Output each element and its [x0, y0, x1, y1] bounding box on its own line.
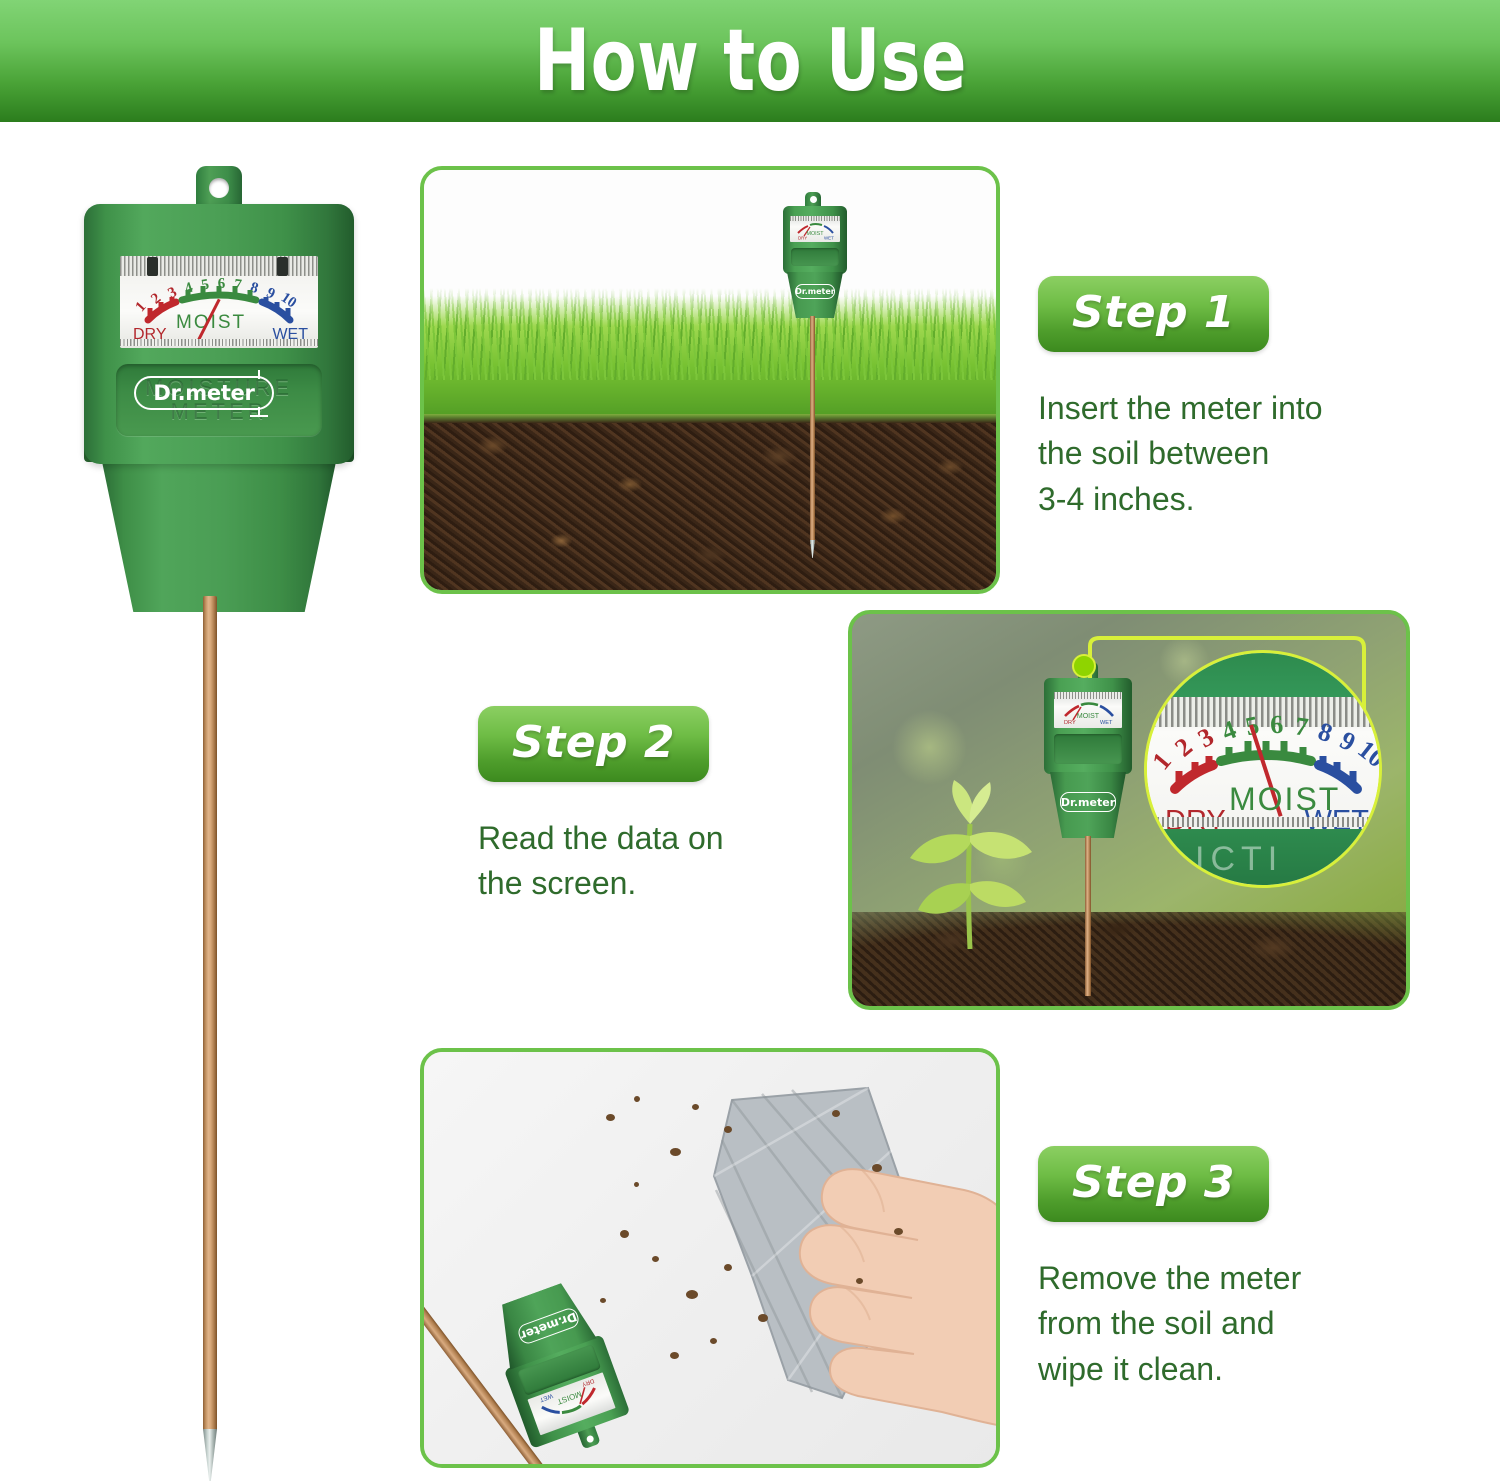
soil-particle [832, 1110, 840, 1117]
svg-text:WET: WET [538, 1392, 553, 1402]
step-3-block: Step 3 Remove the meter from the soil an… [1038, 1146, 1438, 1392]
hero-moisture-meter: 1 2 3 4 5 6 7 8 9 10 DRY [84, 166, 354, 1466]
probe-tip [203, 1429, 217, 1481]
step1-image-panel: MOIST DRY WET Dr.meter 3~4 inches [420, 166, 1000, 594]
step-3-badge: Step 3 [1038, 1146, 1269, 1222]
gauge-comb-bottom [120, 339, 318, 346]
soil-cross-section [424, 414, 996, 590]
magnified-gauge: 1 2 3 4 5 6 7 8 9 10 DRY MOIST WET ICTI [1144, 650, 1382, 888]
brand-logo-text: Dr.meter [153, 381, 254, 405]
svg-text:DRY: DRY [581, 1377, 595, 1387]
logo-tick-bar [250, 415, 268, 417]
svg-text:MOIST: MOIST [806, 231, 824, 237]
seedling-plant [884, 744, 1054, 954]
meter-upper-housing: 1 2 3 4 5 6 7 8 9 10 DRY [84, 204, 354, 464]
meter-lower-housing [100, 452, 338, 612]
analog-gauge: 1 2 3 4 5 6 7 8 9 10 DRY [120, 256, 318, 348]
magnified-ghost-text: ICTI [1195, 840, 1283, 879]
step-2-badge: Step 2 [478, 706, 709, 782]
step-2-description: Read the data on the screen. [478, 816, 858, 907]
step-2-badge-label: Step 2 [512, 717, 675, 768]
soil-particle [606, 1114, 615, 1121]
gauge-screw-left [147, 257, 158, 276]
step-1-description: Insert the meter into the soil between 3… [1038, 386, 1438, 522]
soil-particle [686, 1290, 698, 1299]
probe-rod [203, 596, 217, 1431]
soil-particle [670, 1352, 679, 1359]
soil-particle [652, 1256, 659, 1262]
svg-text:WET: WET [1100, 720, 1113, 726]
soil-particle [724, 1264, 732, 1271]
panel1-embossed-label [791, 248, 839, 266]
soil-particle [634, 1182, 639, 1187]
panel2-probe-rod [1085, 836, 1091, 996]
step-3-badge-label: Step 3 [1072, 1157, 1235, 1208]
gauge-screw-right [277, 257, 288, 276]
step-2-block: Step 2 Read the data on the screen. [478, 706, 858, 907]
svg-text:MOIST: MOIST [556, 1389, 583, 1406]
step-1-block: Step 1 Insert the meter into the soil be… [1038, 276, 1438, 522]
panel2-brand-logo: Dr.meter [1060, 792, 1116, 812]
step3-image-panel: MOIST DRY WET Dr.meter [420, 1048, 1000, 1468]
soil-particle [692, 1104, 699, 1110]
soil-particle [758, 1314, 768, 1322]
step-1-badge-label: Step 1 [1072, 287, 1235, 338]
soil-surface-edge [424, 414, 996, 423]
svg-text:DRY: DRY [798, 236, 807, 241]
soil-particle [710, 1338, 717, 1344]
panel1-brand-logo: Dr.meter [795, 284, 835, 299]
soil-particle [724, 1126, 732, 1133]
soil-particle [670, 1148, 681, 1156]
grass-blades [424, 288, 996, 380]
panel1-gauge: MOIST DRY WET [790, 216, 840, 242]
brand-logo: Dr.meter [134, 376, 274, 410]
step-3-description: Remove the meter from the soil and wipe … [1038, 1256, 1438, 1392]
hand [754, 1132, 1000, 1432]
panel1-meter: MOIST DRY WET Dr.meter [779, 192, 849, 572]
logo-tick-top [258, 370, 260, 379]
soil-particle [620, 1230, 629, 1238]
page-header: How to Use [0, 0, 1500, 122]
magnified-number: 6 [1269, 710, 1284, 741]
svg-text:WET: WET [824, 236, 834, 241]
page-title: How to Use [534, 18, 967, 104]
soil-particle [872, 1164, 882, 1172]
panel1-probe-tip [810, 540, 815, 558]
soil-particle [634, 1096, 640, 1102]
magnifier-anchor-dot [1072, 654, 1096, 678]
step2-image-panel: MOIST DRY WET Dr.meter 1 2 3 4 5 6 7 8 9… [848, 610, 1410, 1010]
magnified-comb-bottom [1147, 817, 1379, 827]
svg-text:DRY: DRY [1064, 720, 1076, 726]
soil-particle [856, 1278, 863, 1284]
soil-particle [894, 1228, 903, 1235]
magnified-comb-top [1147, 697, 1379, 727]
panel1-probe-rod [810, 316, 815, 544]
step-1-badge: Step 1 [1038, 276, 1269, 352]
panel2-embossed-label [1054, 734, 1122, 764]
